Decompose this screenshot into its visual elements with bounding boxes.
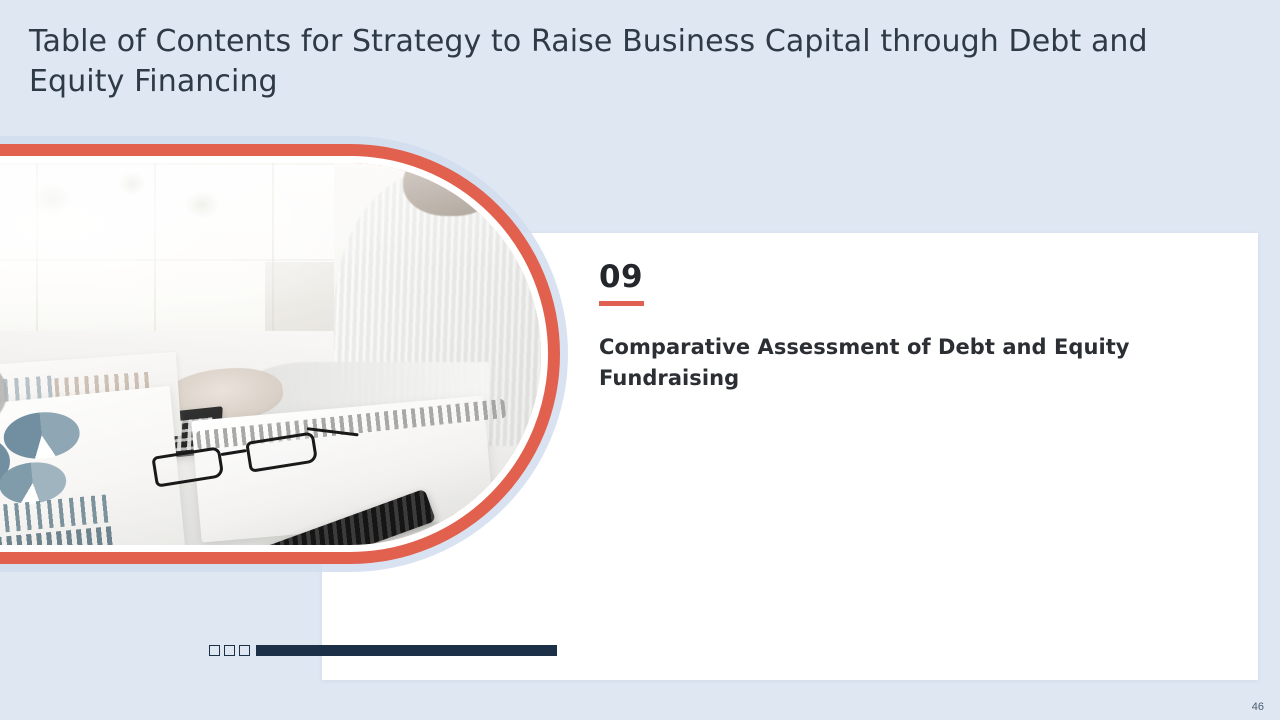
bottom-decoration (209, 645, 557, 656)
background-frame-secondary (265, 262, 334, 331)
pie-chart-small (1, 409, 81, 462)
eyeglasses-lens-right (245, 432, 318, 473)
page-number: 46 (1252, 701, 1264, 713)
accent-rule (599, 301, 644, 306)
square-marker-icon (224, 645, 235, 656)
photo-scene (0, 163, 541, 545)
toc-item-heading: Comparative Assessment of Debt and Equit… (599, 332, 1189, 394)
eyeglasses-bridge (220, 449, 246, 456)
toc-item-number: 09 (599, 260, 1219, 294)
progress-bar (256, 645, 557, 656)
page-title: Table of Contents for Strategy to Raise … (29, 22, 1209, 102)
toc-entry: 09 Comparative Assessment of Debt and Eq… (599, 260, 1219, 394)
slide-canvas: Table of Contents for Strategy to Raise … (0, 0, 1280, 720)
eyeglasses-lens-left (152, 447, 225, 488)
photo-capsule-frame (0, 144, 560, 564)
square-marker-icon (239, 645, 250, 656)
business-meeting-photo (0, 163, 541, 545)
square-marker-icon (209, 645, 220, 656)
